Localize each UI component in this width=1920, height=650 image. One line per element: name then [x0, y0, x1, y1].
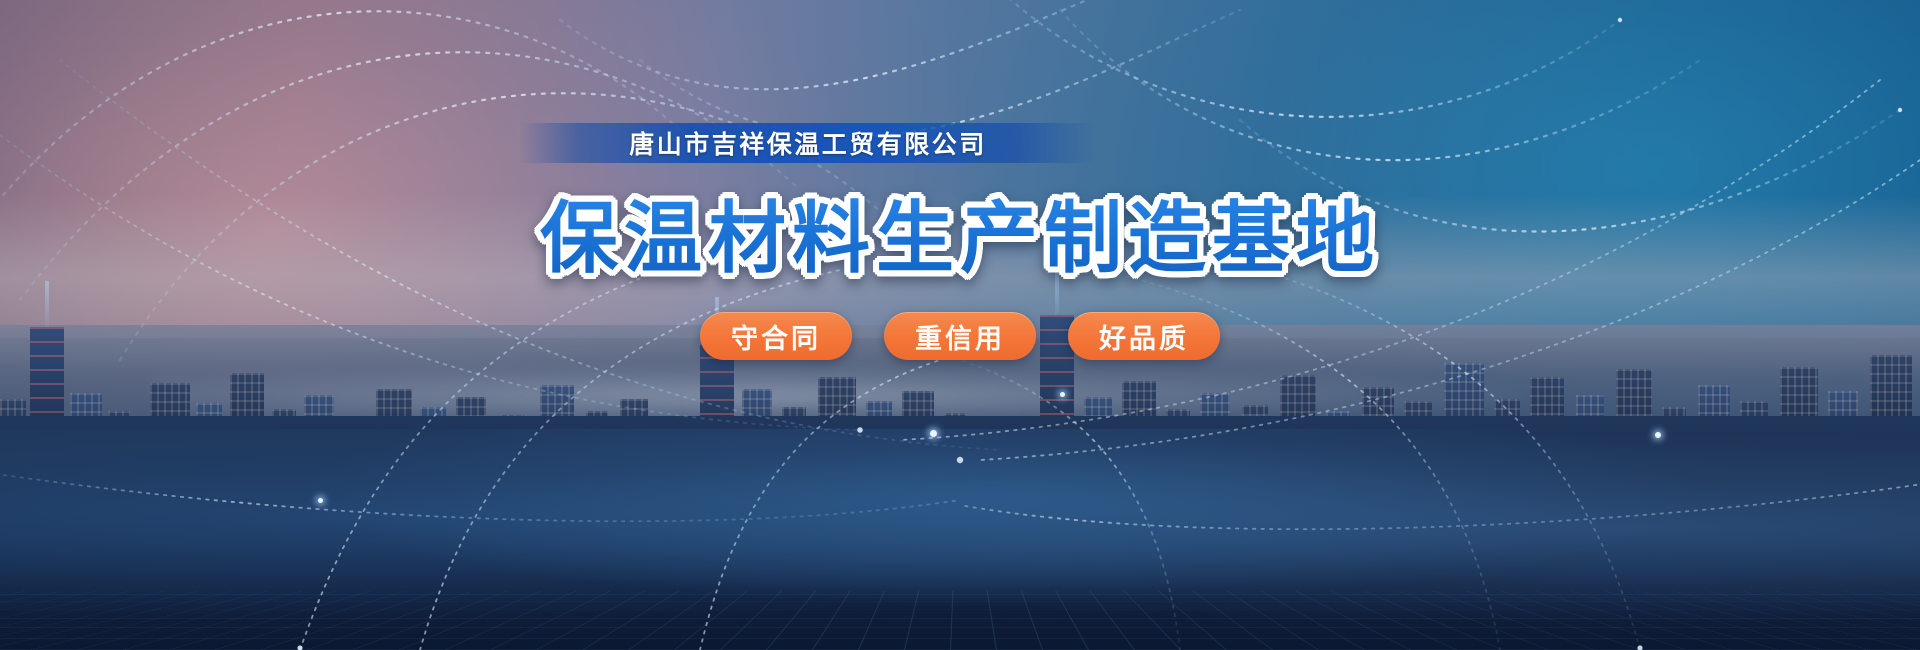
company-name-bar: 唐山市吉祥保温工贸有限公司 — [520, 123, 1096, 163]
pill-label: 重信用 — [915, 317, 1005, 356]
hero-banner: 唐山市吉祥保温工贸有限公司 保温材料生产制造基地 守合同 重信用 好品质 — [0, 0, 1920, 650]
company-name: 唐山市吉祥保温工贸有限公司 — [629, 125, 987, 161]
banner-content: 唐山市吉祥保温工贸有限公司 保温材料生产制造基地 守合同 重信用 好品质 — [0, 0, 1920, 650]
feature-pill-group: 守合同 重信用 好品质 — [0, 312, 1920, 360]
pill-label: 好品质 — [1099, 317, 1189, 356]
pill-label: 守合同 — [731, 317, 821, 356]
pill-quality[interactable]: 好品质 — [1068, 312, 1220, 360]
pill-credit[interactable]: 重信用 — [884, 312, 1036, 360]
pill-contract[interactable]: 守合同 — [700, 312, 852, 360]
page-title: 保温材料生产制造基地 — [0, 176, 1920, 288]
